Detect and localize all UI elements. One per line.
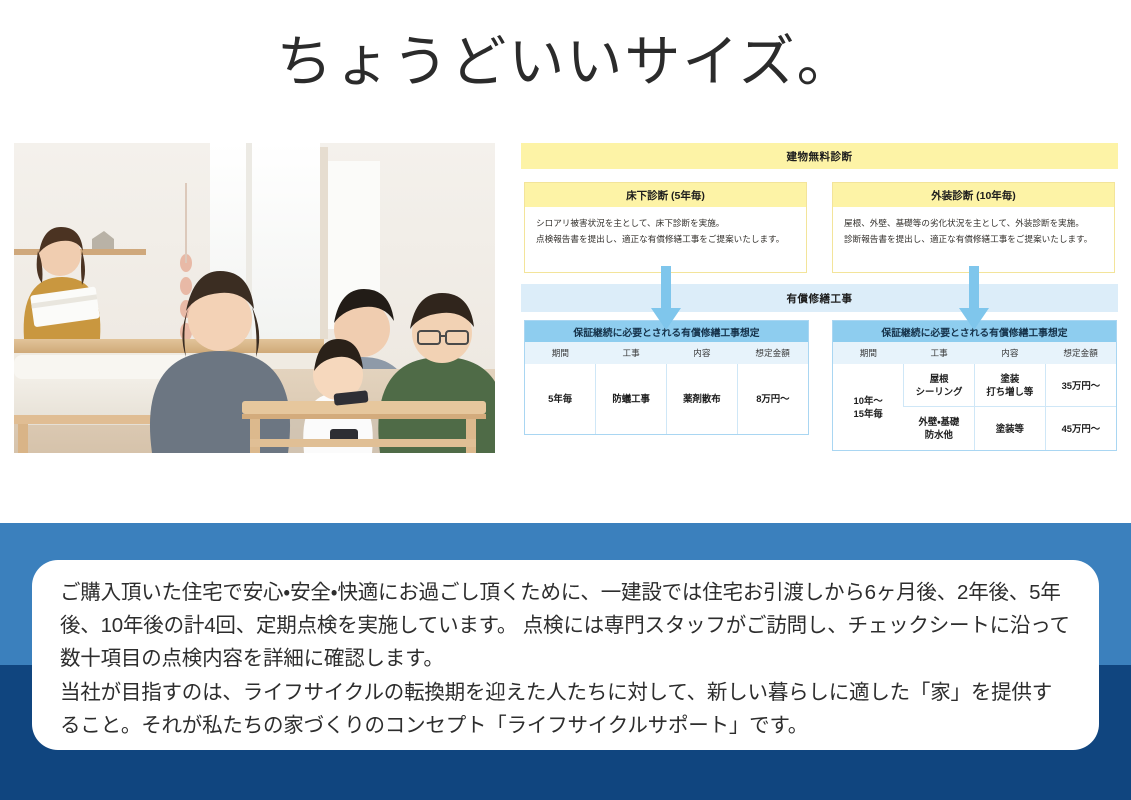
table-header-row: 期間 工事 内容 想定金額 bbox=[833, 342, 1116, 364]
cell-amount: 45万円〜 bbox=[1045, 407, 1116, 450]
maintenance-diagram: 建物無料診断 床下診断 (5年毎) シロアリ被害状況を主として、床下診断を実施。… bbox=[521, 143, 1118, 463]
cell-content: 塗装等 bbox=[975, 407, 1046, 450]
diagram-top-band: 建物無料診断 bbox=[521, 143, 1118, 169]
work-line-2: 防水他 bbox=[925, 429, 953, 440]
page-title: ちょうどいいサイズ。 bbox=[0, 28, 1131, 95]
cell-amount: 8万円〜 bbox=[737, 364, 808, 434]
work-line-1: 外壁・基礎 bbox=[919, 416, 960, 427]
work-line-1: 屋根 bbox=[930, 373, 949, 384]
repair-table-exterior: 保証継続に必要とされる有償修繕工事想定 期間 工事 内容 想定金額 10年〜 1… bbox=[832, 320, 1117, 451]
card-line: シロアリ被害状況を主として、床下診断を実施。 bbox=[536, 216, 795, 232]
content-line-1: 塗装 bbox=[1000, 373, 1019, 384]
column-header: 想定金額 bbox=[1045, 342, 1116, 364]
card-header: 外装診断 (10年毎) bbox=[833, 183, 1114, 207]
down-arrow-icon bbox=[651, 266, 681, 330]
down-arrow-icon bbox=[959, 266, 989, 330]
card-header: 床下診断 (5年毎) bbox=[525, 183, 806, 207]
cell-period: 10年〜 15年毎 bbox=[833, 364, 904, 450]
cell-work: 防蟻工事 bbox=[596, 364, 667, 434]
content-line-2: 打ち増し等 bbox=[986, 386, 1033, 397]
cell-amount: 35万円〜 bbox=[1045, 364, 1116, 407]
column-header: 内容 bbox=[975, 342, 1046, 364]
column-header: 工事 bbox=[904, 342, 975, 364]
column-header: 想定金額 bbox=[737, 342, 808, 364]
footer-description-card: ご購入頂いた住宅で安心・安全・快適にお過ごし頂くために、一建設では住宅お引渡しか… bbox=[32, 560, 1099, 750]
cell-content: 塗装 打ち増し等 bbox=[975, 364, 1046, 407]
data-table: 期間 工事 内容 想定金額 5年毎 防蟻工事 薬剤散布 8万円〜 bbox=[525, 342, 808, 434]
repair-table-floor: 保証継続に必要とされる有償修繕工事想定 期間 工事 内容 想定金額 5年毎 防蟻… bbox=[524, 320, 809, 435]
table-row: 5年毎 防蟻工事 薬剤散布 8万円〜 bbox=[525, 364, 808, 434]
column-header: 期間 bbox=[525, 342, 596, 364]
family-living-room-photo bbox=[14, 143, 495, 453]
footer-paragraph: 当社が目指すのは、ライフサイクルの転換期を迎えた人たちに対して、新しい暮らしに適… bbox=[60, 676, 1071, 742]
card-line: 診断報告書を提出し、適正な有償修繕工事をご提案いたします。 bbox=[844, 232, 1103, 248]
table-row: 10年〜 15年毎 屋根 シーリング 塗装 打ち増し等 35万円〜 bbox=[833, 364, 1116, 407]
diagram-mid-band: 有償修繕工事 bbox=[521, 284, 1118, 312]
cell-content: 薬剤散布 bbox=[667, 364, 738, 434]
card-line: 点検報告書を提出し、適正な有償修繕工事をご提案いたします。 bbox=[536, 232, 795, 248]
cell-period: 5年毎 bbox=[525, 364, 596, 434]
diagram-card-exterior-inspection: 外装診断 (10年毎) 屋根、外壁、基礎等の劣化状況を主として、外装診断を実施。… bbox=[832, 182, 1115, 273]
period-line-1: 10年〜 bbox=[854, 395, 883, 406]
cell-work: 外壁・基礎 防水他 bbox=[904, 407, 975, 450]
card-body: 屋根、外壁、基礎等の劣化状況を主として、外装診断を実施。 診断報告書を提出し、適… bbox=[833, 207, 1114, 272]
column-header: 工事 bbox=[596, 342, 667, 364]
column-header: 期間 bbox=[833, 342, 904, 364]
column-header: 内容 bbox=[667, 342, 738, 364]
footer-paragraph: ご購入頂いた住宅で安心・安全・快適にお過ごし頂くために、一建設では住宅お引渡しか… bbox=[60, 576, 1071, 676]
diagram-card-floor-inspection: 床下診断 (5年毎) シロアリ被害状況を主として、床下診断を実施。 点検報告書を… bbox=[524, 182, 807, 273]
card-body: シロアリ被害状況を主として、床下診断を実施。 点検報告書を提出し、適正な有償修繕… bbox=[525, 207, 806, 272]
data-table: 期間 工事 内容 想定金額 10年〜 15年毎 屋根 シーリング bbox=[833, 342, 1116, 450]
work-line-2: シーリング bbox=[916, 386, 963, 397]
table-header-row: 期間 工事 内容 想定金額 bbox=[525, 342, 808, 364]
cell-work: 屋根 シーリング bbox=[904, 364, 975, 407]
period-line-2: 15年毎 bbox=[854, 408, 883, 419]
card-line: 屋根、外壁、基礎等の劣化状況を主として、外装診断を実施。 bbox=[844, 216, 1103, 232]
